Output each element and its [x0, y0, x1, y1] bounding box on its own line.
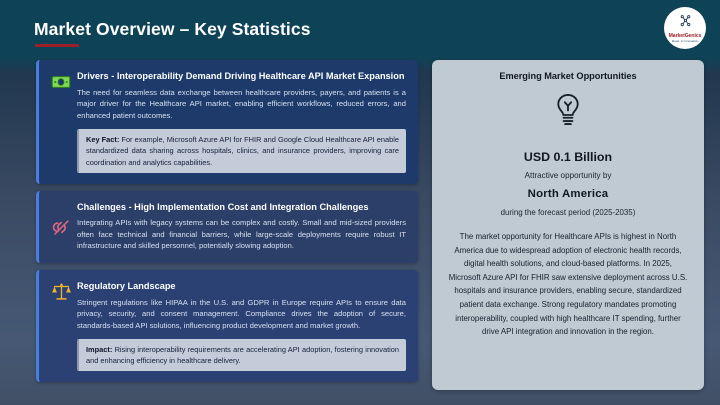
- insight-cards-column: Drivers - Interoperability Demand Drivin…: [36, 60, 418, 389]
- callout-text: Rising interoperability requirements are…: [86, 345, 399, 365]
- market-value: USD 0.1 Billion: [446, 150, 690, 164]
- card-drivers: Drivers - Interoperability Demand Drivin…: [36, 60, 418, 184]
- card-body: Stringent regulations like HIPAA in the …: [77, 297, 406, 332]
- money-banknote-icon: [50, 71, 72, 93]
- opportunity-caption: Attractive opportunity by: [446, 171, 690, 180]
- logo-tagline: Ideas, to Innovation: [672, 40, 699, 43]
- card-regulatory-landscape: Regulatory Landscape Stringent regulatio…: [36, 270, 418, 383]
- callout-label: Impact:: [86, 345, 112, 354]
- callout-label: Key Fact:: [86, 135, 119, 144]
- emerging-market-opportunities-panel: Emerging Market Opportunities USD 0.1 Bi…: [432, 60, 704, 390]
- card-title: Challenges - High Implementation Cost an…: [77, 201, 406, 214]
- broken-chain-link-icon: [50, 217, 72, 239]
- page-title: Market Overview – Key Statistics: [34, 19, 311, 40]
- panel-title: Emerging Market Opportunities: [446, 71, 690, 81]
- network-nodes-icon: [679, 14, 692, 32]
- card-title: Drivers - Interoperability Demand Drivin…: [77, 70, 406, 83]
- card-title: Regulatory Landscape: [77, 280, 406, 293]
- region-name: North America: [446, 188, 690, 200]
- card-challenges: Challenges - High Implementation Cost an…: [36, 191, 418, 263]
- impact-callout: Impact: Rising interoperability requirem…: [77, 339, 406, 371]
- key-fact-callout: Key Fact: For example, Microsoft Azure A…: [77, 129, 406, 172]
- forecast-period-caption: during the forecast period (2025-2035): [446, 208, 690, 217]
- slide-header: Market Overview – Key Statistics: [0, 0, 720, 56]
- card-body: The need for seamless data exchange betw…: [77, 87, 406, 122]
- lightbulb-icon: [446, 91, 690, 129]
- slide-root: Market Overview – Key Statistics MarketG…: [0, 0, 720, 405]
- scales-of-justice-icon: [50, 281, 72, 303]
- callout-text: For example, Microsoft Azure API for FHI…: [86, 135, 399, 166]
- brand-logo: MarketGenics Ideas, to Innovation: [664, 7, 706, 49]
- card-body: Integrating APIs with legacy systems can…: [77, 217, 406, 252]
- title-underline-accent: [35, 44, 79, 47]
- panel-description: The market opportunity for Healthcare AP…: [446, 230, 690, 339]
